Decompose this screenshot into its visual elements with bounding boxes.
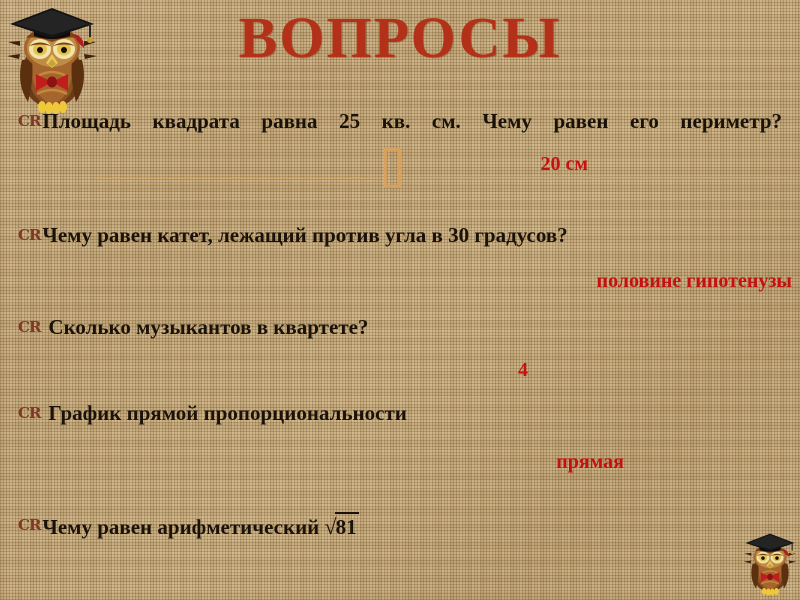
questions-list: CR Площадь квадрата равна 25 кв. см. Чем…: [0, 104, 800, 572]
answer-text: половине гипотенузы: [597, 268, 792, 294]
bullet-icon: CR: [18, 110, 40, 133]
bullet-icon: CR: [18, 514, 40, 537]
question-text: Чему равен арифметический √81: [42, 512, 782, 542]
bullet-icon: CR: [18, 402, 40, 425]
ruled-line-right: [418, 177, 788, 178]
ruled-line-left: [96, 178, 380, 179]
qa-block: CR График прямой пропорциональности прям…: [0, 400, 800, 512]
slide-canvas: ВОПРОСЫ CR Площадь квадрата равна 25 кв.…: [0, 0, 800, 600]
question-text: Сколько музыкантов в квартете?: [42, 314, 782, 341]
bullet-icon: CR: [18, 224, 40, 247]
radicand-value: 81: [335, 512, 359, 541]
answer-text: прямая: [556, 449, 624, 475]
question-text: Площадь квадрата равна 25 кв. см. Чему р…: [42, 108, 782, 135]
bullet-icon: CR: [18, 316, 40, 339]
qa-block: CR Чему равен арифметический √81: [0, 512, 800, 572]
question-text: Чему равен катет, лежащий против угла в …: [42, 222, 782, 249]
square-root-expression: √81: [325, 512, 359, 542]
answer-text: 4: [518, 357, 528, 383]
missing-glyph-box: [384, 148, 401, 188]
qa-block: CR Площадь квадрата равна 25 кв. см. Чем…: [0, 104, 800, 222]
answer-text: 20 см: [541, 151, 589, 177]
qa-block: CR Сколько музыкантов в квартете? 4: [0, 314, 800, 400]
qa-block: CR Чему равен катет, лежащий против угла…: [0, 222, 800, 314]
page-title: ВОПРОСЫ: [0, 8, 800, 69]
question-text: График прямой пропорциональности: [42, 400, 782, 427]
